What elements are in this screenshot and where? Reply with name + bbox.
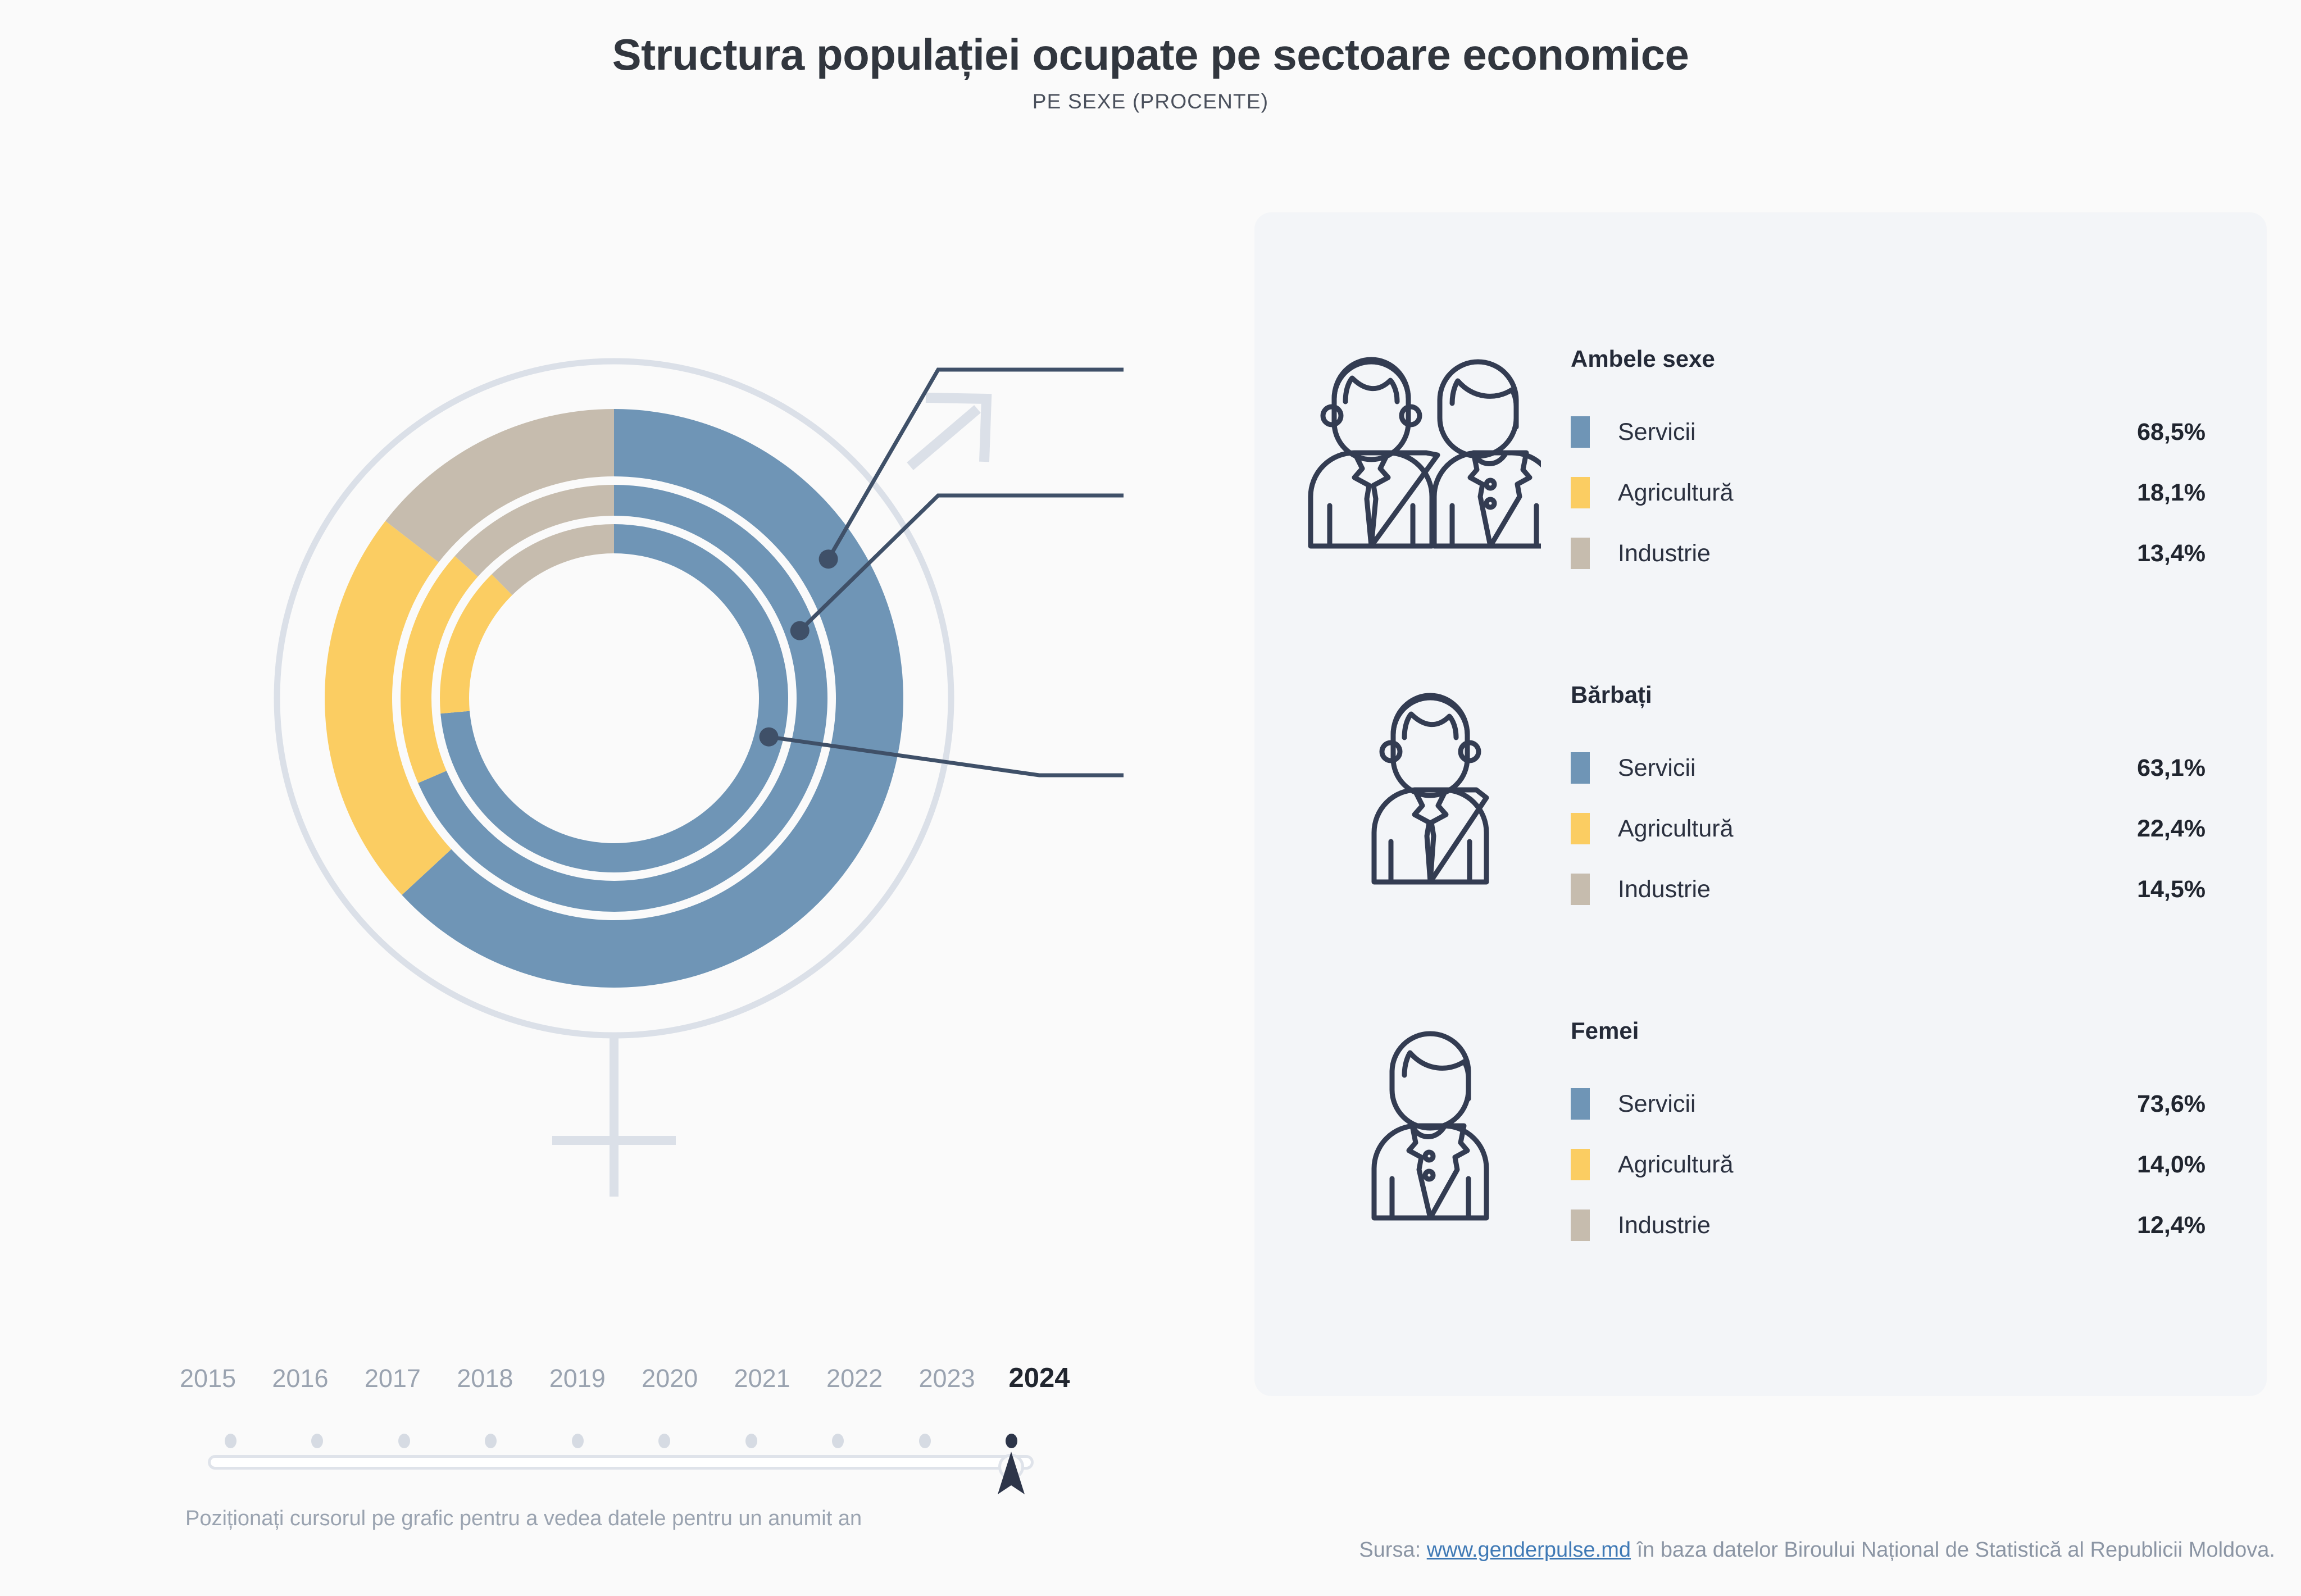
- source-link[interactable]: www.genderpulse.md: [1427, 1538, 1631, 1562]
- year-dot-2023[interactable]: [919, 1434, 931, 1448]
- legend-row: Agricultură 22,4%: [1571, 798, 2205, 859]
- donut-segment-agricultura-outer[interactable]: [325, 521, 451, 895]
- legend-row-label: Industrie: [1618, 540, 2059, 567]
- color-swatch-servicii: [1571, 752, 1590, 784]
- legend-row-value: 68,5%: [2059, 419, 2205, 446]
- color-swatch-agricultura: [1571, 477, 1590, 508]
- legend-row: Servicii 68,5%: [1571, 402, 2205, 462]
- concentric-donut-chart[interactable]: [112, 185, 1124, 1197]
- male-gender-symbol-arrow-icon: [910, 398, 986, 466]
- year-dot-2017[interactable]: [398, 1434, 410, 1448]
- year-dot-2016[interactable]: [311, 1434, 323, 1448]
- year-label-2020[interactable]: 2020: [642, 1364, 698, 1393]
- legend-row-label: Agricultură: [1618, 1151, 2059, 1179]
- year-label-2022[interactable]: 2022: [826, 1364, 883, 1393]
- legend-row: Industrie 14,5%: [1571, 859, 2205, 920]
- legend-row-value: 12,4%: [2059, 1212, 2205, 1239]
- year-label-2016[interactable]: 2016: [272, 1364, 328, 1393]
- legend-row: Industrie 12,4%: [1571, 1195, 2205, 1256]
- year-dot-2018[interactable]: [485, 1434, 497, 1448]
- source-suffix: în baza datelor Biroului Național de Sta…: [1631, 1538, 2275, 1562]
- woman-icon: [1370, 1009, 1490, 1228]
- legend-row: Servicii 73,6%: [1571, 1074, 2205, 1134]
- legend-row-label: Industrie: [1618, 1212, 2059, 1239]
- year-slider-dots[interactable]: [208, 1434, 1034, 1448]
- year-slider-track[interactable]: [208, 1455, 1034, 1470]
- year-dot-2024[interactable]: [1006, 1434, 1017, 1448]
- color-swatch-agricultura: [1571, 813, 1590, 844]
- legend-group-title: Ambele sexe: [1571, 345, 1715, 372]
- leader-dot[interactable]: [819, 549, 838, 569]
- year-label-2021[interactable]: 2021: [734, 1364, 790, 1393]
- legend-row-label: Servicii: [1618, 419, 2059, 446]
- color-swatch-agricultura: [1571, 1149, 1590, 1180]
- year-dot-2019[interactable]: [572, 1434, 584, 1448]
- color-swatch-industrie: [1571, 538, 1590, 569]
- year-labels[interactable]: 2015201620172018201920202021202220232024: [185, 1364, 1062, 1403]
- legend-row-value: 14,5%: [2059, 876, 2205, 903]
- legend-row-value: 13,4%: [2059, 540, 2205, 567]
- year-dot-2015[interactable]: [225, 1434, 237, 1448]
- page-subtitle: PE SEXE (PROCENTE): [0, 90, 2301, 113]
- leader-dot[interactable]: [790, 621, 810, 640]
- leader-dot[interactable]: [760, 727, 779, 747]
- year-label-2023[interactable]: 2023: [918, 1364, 975, 1393]
- legend-row-label: Servicii: [1618, 1090, 2059, 1118]
- legend-row-label: Servicii: [1618, 754, 2059, 782]
- man-icon: [1370, 673, 1490, 892]
- legend-rows: Servicii 63,1% Agricultură 22,4% Industr…: [1571, 738, 2205, 920]
- legend-row-label: Agricultură: [1618, 815, 2059, 843]
- legend-row: Agricultură 18,1%: [1571, 462, 2205, 523]
- year-label-2018[interactable]: 2018: [457, 1364, 513, 1393]
- year-dot-2021[interactable]: [745, 1434, 757, 1448]
- legend-group-title: Bărbați: [1571, 681, 1652, 708]
- legend-row-value: 22,4%: [2059, 815, 2205, 843]
- chart-hint-text: Poziționați cursorul pe grafic pentru a …: [185, 1507, 862, 1531]
- cursor-arrow-icon[interactable]: [997, 1451, 1026, 1499]
- page-title: Structura populației ocupate pe sectoare…: [0, 29, 2301, 80]
- legend-rows: Servicii 73,6% Agricultură 14,0% Industr…: [1571, 1074, 2205, 1256]
- legend-row-value: 18,1%: [2059, 479, 2205, 507]
- legend-panel: Ambele sexe Servicii 68,5% Agricultură 1…: [1254, 212, 2267, 1396]
- year-dot-2022[interactable]: [832, 1434, 844, 1448]
- legend-row-value: 73,6%: [2059, 1090, 2205, 1118]
- legend-row: Servicii 63,1%: [1571, 738, 2205, 798]
- legend-row-label: Agricultură: [1618, 479, 2059, 507]
- legend-row: Industrie 13,4%: [1571, 523, 2205, 584]
- year-dot-2020[interactable]: [658, 1434, 670, 1448]
- source-footer: Sursa: www.genderpulse.md în baza datelo…: [1359, 1538, 2275, 1562]
- color-swatch-industrie: [1571, 874, 1590, 905]
- year-slider[interactable]: [208, 1434, 1034, 1470]
- color-swatch-servicii: [1571, 416, 1590, 448]
- year-label-2024[interactable]: 2024: [1008, 1362, 1070, 1394]
- legend-rows: Servicii 68,5% Agricultură 18,1% Industr…: [1571, 402, 2205, 584]
- source-prefix: Sursa:: [1359, 1538, 1426, 1562]
- legend-row: Agricultură 14,0%: [1571, 1134, 2205, 1195]
- year-label-2015[interactable]: 2015: [180, 1364, 236, 1393]
- color-swatch-servicii: [1571, 1088, 1590, 1120]
- legend-row-label: Industrie: [1618, 876, 2059, 903]
- year-label-2019[interactable]: 2019: [549, 1364, 606, 1393]
- legend-row-value: 14,0%: [2059, 1151, 2205, 1179]
- two-persons-icon: [1305, 337, 1541, 556]
- year-label-2017[interactable]: 2017: [365, 1364, 421, 1393]
- legend-group-title: Femei: [1571, 1017, 1639, 1044]
- color-swatch-industrie: [1571, 1209, 1590, 1241]
- legend-row-value: 63,1%: [2059, 754, 2205, 782]
